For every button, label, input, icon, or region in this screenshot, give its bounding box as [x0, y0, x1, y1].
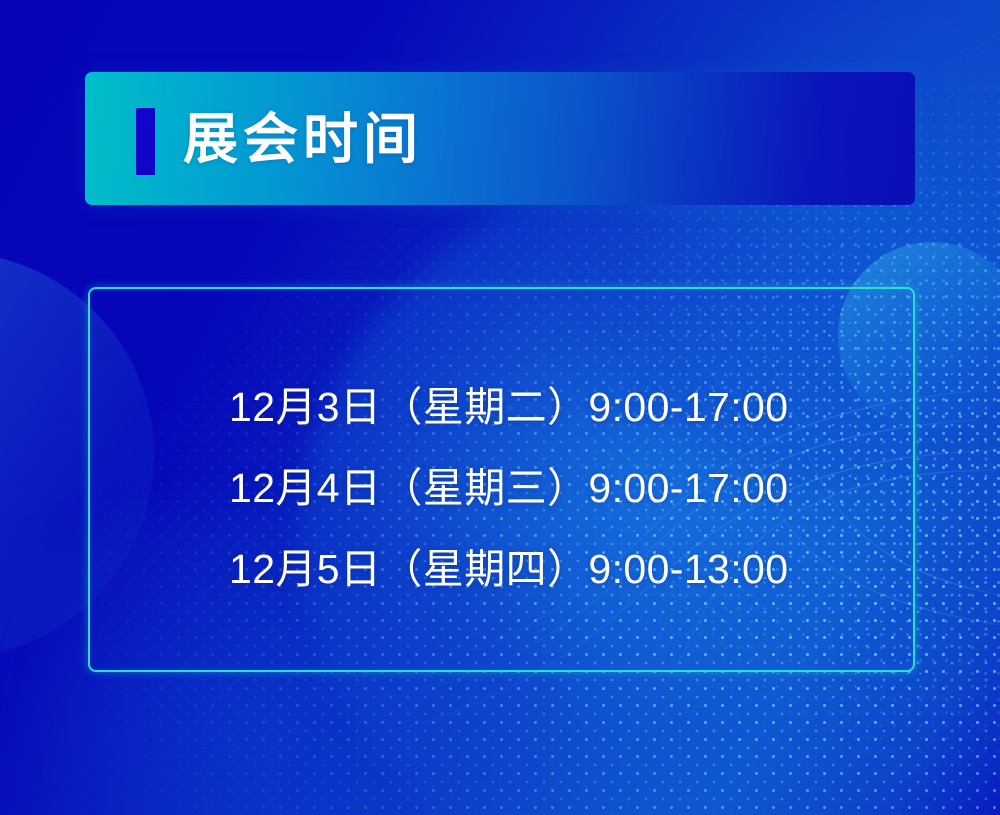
exhibition-time-poster: 展会时间 12月3日（星期二）9:00-17:00 12月4日（星期三）9:00…	[0, 0, 1000, 815]
schedule-list: 12月3日（星期二）9:00-17:00 12月4日（星期三）9:00-17:0…	[229, 367, 913, 610]
header-band: 展会时间	[85, 72, 915, 205]
schedule-row: 12月4日（星期三）9:00-17:00	[229, 448, 913, 529]
title-accent-bar-icon	[136, 108, 155, 175]
schedule-row: 12月3日（星期二）9:00-17:00	[229, 367, 913, 448]
page-title: 展会时间	[183, 101, 423, 177]
schedule-panel: 12月3日（星期二）9:00-17:00 12月4日（星期三）9:00-17:0…	[88, 287, 915, 672]
schedule-row: 12月5日（星期四）9:00-13:00	[229, 529, 913, 610]
